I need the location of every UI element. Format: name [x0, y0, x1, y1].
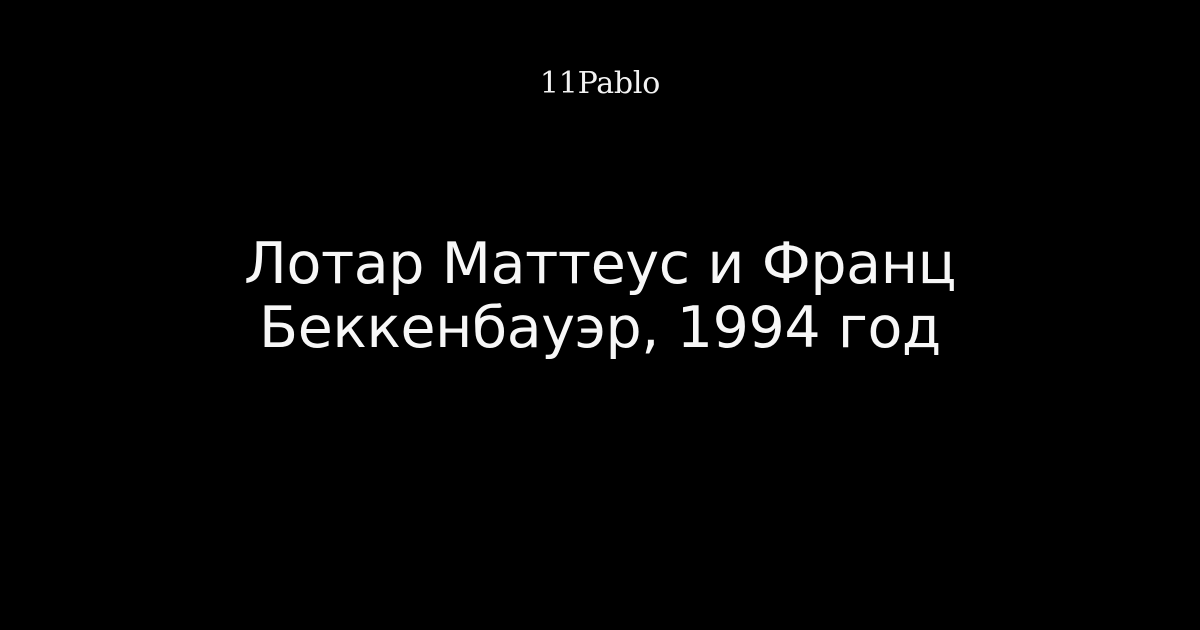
page-title-line-2: Беккенбауэр, 1994 год	[0, 296, 1200, 360]
empty-content-area	[0, 400, 1200, 630]
brand-header: 11Pablo	[0, 68, 1200, 100]
site-brand-name[interactable]: 11Pablo	[540, 68, 660, 100]
headline-block: Лотар Маттеус и Франц Беккенбауэр, 1994 …	[0, 232, 1200, 360]
preview-card: 11Pablo Лотар Маттеус и Франц Беккенбауэ…	[0, 0, 1200, 630]
page-title-line-1: Лотар Маттеус и Франц	[0, 232, 1200, 296]
